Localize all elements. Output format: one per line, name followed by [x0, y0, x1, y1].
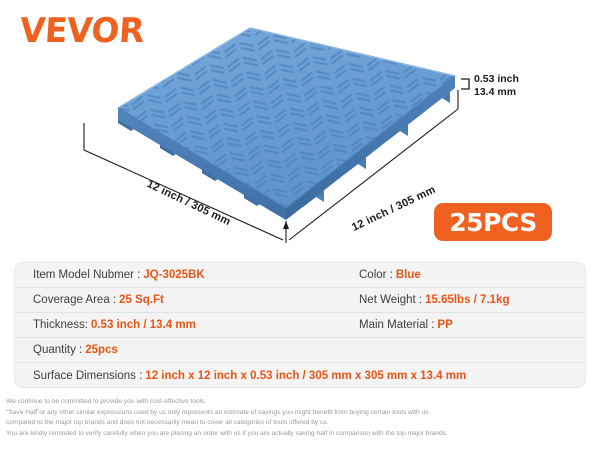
- spec-value: 25pcs: [85, 344, 118, 356]
- spec-label: Surface Dimensions :: [33, 370, 142, 382]
- fineprint-line: "Save Half"or any other similar expressi…: [6, 408, 596, 419]
- quantity-badge: 25PCS: [434, 203, 552, 241]
- spec-row: Item Model Nubmer : JQ-3025BK Color : Bl…: [15, 263, 585, 288]
- specifications-panel: Item Model Nubmer : JQ-3025BK Color : Bl…: [14, 262, 586, 388]
- spec-coverage-area: Coverage Area : 25 Sq.Ft: [15, 294, 359, 306]
- spec-thickness: Thickness: 0.53 inch / 13.4 mm: [15, 319, 359, 331]
- thickness-callout-inch: 0.53 inch: [474, 73, 519, 86]
- quantity-badge-label: 25PCS: [449, 208, 536, 237]
- fineprint-line: You are kindly reminded to verify carefu…: [6, 429, 596, 440]
- spec-value: 0.53 inch / 13.4 mm: [91, 319, 196, 331]
- spec-label: Item Model Nubmer :: [33, 269, 140, 281]
- spec-label: Thickness:: [33, 319, 88, 331]
- spec-row: Thickness: 0.53 inch / 13.4 mm Main Mate…: [15, 313, 585, 338]
- spec-row: Surface Dimensions : 12 inch x 12 inch x…: [15, 363, 585, 388]
- spec-label: Coverage Area :: [33, 294, 116, 306]
- spec-value: 15.65lbs / 7.1kg: [425, 294, 509, 306]
- spec-net-weight: Net Weight : 15.65lbs / 7.1kg: [359, 294, 509, 306]
- product-image-canvas: VEVOR: [0, 0, 600, 450]
- spec-value: PP: [437, 319, 452, 331]
- dim-arrowhead: [283, 221, 289, 229]
- spec-color: Color : Blue: [359, 269, 421, 281]
- spec-label: Color :: [359, 269, 393, 281]
- spec-label: Quantity :: [33, 344, 82, 356]
- spec-quantity: Quantity : 25pcs: [15, 344, 585, 356]
- product-illustration: 0.53 inch 13.4 mm 12 inch / 305 mm 12 in…: [0, 0, 600, 262]
- spec-value: 12 inch x 12 inch x 0.53 inch / 305 mm x…: [145, 370, 466, 382]
- thickness-callout-mm: 13.4 mm: [474, 86, 519, 99]
- spec-row: Quantity : 25pcs: [15, 338, 585, 363]
- fineprint-line: compared to the major top brands and doe…: [6, 418, 596, 429]
- spec-main-material: Main Material : PP: [359, 319, 453, 331]
- spec-label: Net Weight :: [359, 294, 422, 306]
- spec-surface-dimensions: Surface Dimensions : 12 inch x 12 inch x…: [15, 370, 585, 382]
- thickness-bracket-icon: [461, 79, 469, 89]
- spec-label: Main Material :: [359, 319, 434, 331]
- thickness-callout: 0.53 inch 13.4 mm: [474, 73, 519, 99]
- legal-fineprint: We continue to be committed to provide y…: [6, 397, 596, 440]
- spec-value: 25 Sq.Ft: [119, 294, 164, 306]
- fineprint-line: We continue to be committed to provide y…: [6, 397, 596, 408]
- spec-value: Blue: [396, 269, 421, 281]
- spec-value: JQ-3025BK: [143, 269, 204, 281]
- spec-item-model-number: Item Model Nubmer : JQ-3025BK: [15, 269, 359, 281]
- spec-row: Coverage Area : 25 Sq.Ft Net Weight : 15…: [15, 288, 585, 313]
